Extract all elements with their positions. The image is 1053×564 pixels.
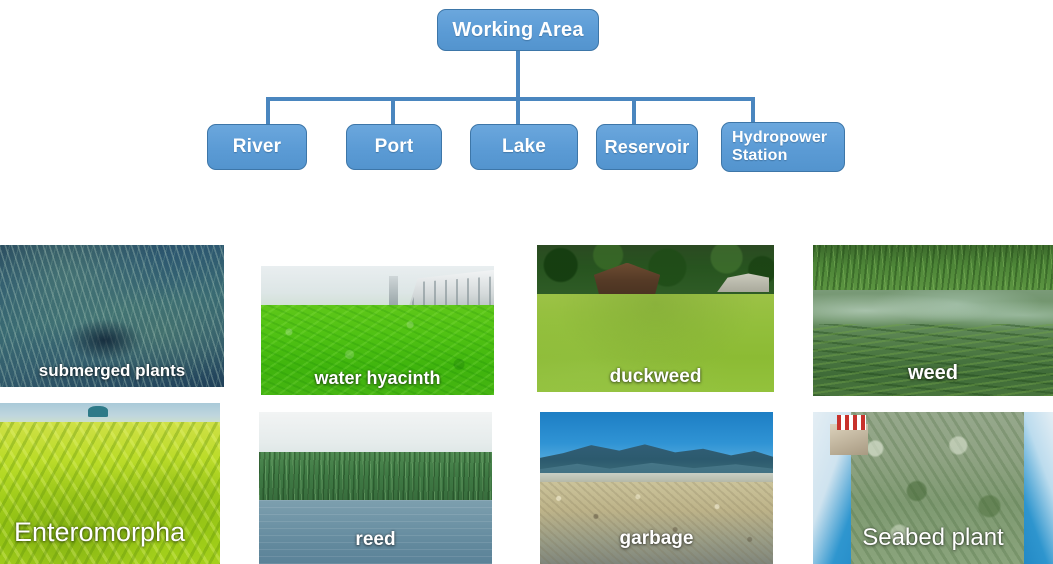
connector-drop-lake xyxy=(516,99,520,125)
photo-caption: duckweed xyxy=(537,366,774,388)
node-working-area[interactable]: Working Area xyxy=(437,9,599,51)
photo-submerged-plants: submerged plants xyxy=(0,245,224,387)
node-port[interactable]: Port xyxy=(346,124,442,170)
photo-duckweed: duckweed xyxy=(537,245,774,392)
node-river[interactable]: River xyxy=(207,124,307,170)
photo-tower xyxy=(389,276,398,304)
photo-texture xyxy=(813,245,1053,293)
photo-sky xyxy=(0,403,220,424)
photo-weed: weed xyxy=(813,245,1053,396)
photo-reed: reed xyxy=(259,412,492,564)
photo-texture xyxy=(259,452,492,502)
node-lake[interactable]: Lake xyxy=(470,124,578,170)
connector-drop-reservoir xyxy=(632,99,636,125)
photo-enteromorpha: Enteromorpha xyxy=(0,403,220,564)
photo-marker-stripes xyxy=(837,415,866,430)
photo-seabed-plant: Seabed plant xyxy=(813,412,1053,564)
connector-root-vertical xyxy=(516,51,520,99)
photo-caption: Seabed plant xyxy=(813,524,1053,552)
photo-caption: water hyacinth xyxy=(261,368,494,389)
page-root: Working Area River Port Lake Reservoir H… xyxy=(0,0,1053,564)
working-area-org-chart: Working Area River Port Lake Reservoir H… xyxy=(0,0,1053,200)
connector-drop-port xyxy=(391,99,395,125)
connector-drop-river xyxy=(266,99,270,125)
photo-texture xyxy=(67,319,143,362)
photo-texture xyxy=(540,482,773,564)
photo-caption: garbage xyxy=(540,528,773,550)
photo-garbage: garbage xyxy=(540,412,773,564)
node-hydropower-station[interactable]: Hydropower Station xyxy=(721,122,845,172)
photo-boat xyxy=(88,406,108,417)
connector-horizontal-bus xyxy=(266,97,755,101)
photo-texture xyxy=(813,324,1053,396)
photo-water-hyacinth: water hyacinth xyxy=(261,266,494,395)
photo-caption: reed xyxy=(259,529,492,551)
node-reservoir[interactable]: Reservoir xyxy=(596,124,698,170)
photo-caption: submerged plants xyxy=(0,361,224,381)
photo-caption: weed xyxy=(813,362,1053,385)
photo-caption: Enteromorpha xyxy=(0,517,220,548)
